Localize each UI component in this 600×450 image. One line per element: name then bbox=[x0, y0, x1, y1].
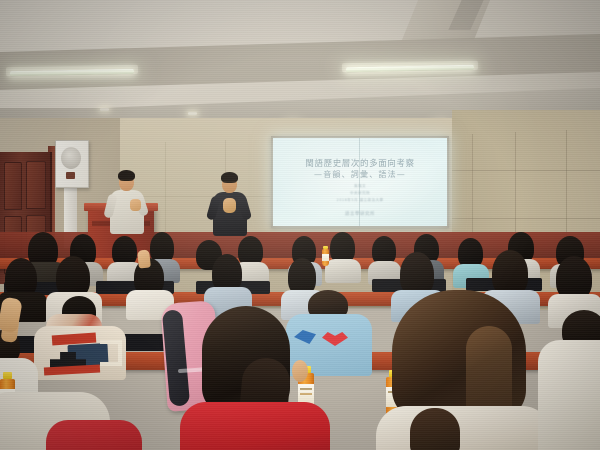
wall-seam-h2 bbox=[452, 218, 600, 219]
bottle-label-text bbox=[300, 388, 312, 390]
speaker-center bbox=[208, 168, 254, 236]
slide-footer: 語言學研究所 bbox=[273, 211, 447, 217]
red-top-torso bbox=[180, 402, 330, 450]
door-panel-upper-left bbox=[4, 162, 22, 210]
bottle-label-text-2 bbox=[300, 393, 312, 395]
clapping-hand-raised bbox=[137, 249, 151, 268]
downlight-7 bbox=[100, 108, 109, 111]
downlight-6 bbox=[188, 112, 197, 115]
bottle-rear bbox=[322, 246, 329, 266]
hair-over-shoulder bbox=[410, 408, 460, 450]
speaker-2-clasped-hands bbox=[223, 198, 236, 213]
slide-presenter: 吳瑞文 bbox=[273, 184, 447, 189]
sleeve-torso bbox=[538, 340, 600, 450]
aztec-pattern-white-hook bbox=[100, 340, 122, 366]
ear bbox=[292, 360, 308, 382]
audience-foreground-red-shoulder bbox=[46, 420, 142, 450]
speaker-tweeter-icon bbox=[66, 172, 75, 179]
wall-seam-h1 bbox=[452, 170, 600, 171]
wall-seam-v5 bbox=[165, 142, 166, 234]
cream-blouse-torso bbox=[376, 406, 552, 450]
slide-affiliation: 中央研究院 bbox=[273, 191, 447, 196]
slide-title: 閩語歷史層次的多面向考察 bbox=[273, 157, 447, 169]
speaker-1-glasses-icon bbox=[120, 179, 133, 181]
bottle-label bbox=[322, 254, 329, 261]
lecture-hall-photo: 閩語歷史層次的多面向考察 —音韻、詞彙、語法— 吳瑞文 中央研究院 2016年5… bbox=[0, 0, 600, 450]
door-panel-upper-right bbox=[26, 161, 46, 209]
projection-screen: 閩語歷史層次的多面向考察 —音韻、詞彙、語法— 吳瑞文 中央研究院 2016年5… bbox=[273, 138, 447, 226]
shoulders bbox=[325, 259, 361, 283]
bottle-cap bbox=[3, 372, 12, 379]
slide-date: 2016年5月 國立政治大學 bbox=[273, 198, 447, 203]
speaker-1-clapping-hands bbox=[130, 199, 141, 211]
slide-subtitle: —音韻、詞彙、語法— bbox=[273, 169, 447, 180]
speaker-2-glasses-icon bbox=[223, 181, 236, 183]
speaker-cone-icon bbox=[61, 147, 81, 169]
clapping-hand-bottom-left bbox=[0, 297, 23, 334]
speaker-at-podium bbox=[104, 166, 152, 236]
